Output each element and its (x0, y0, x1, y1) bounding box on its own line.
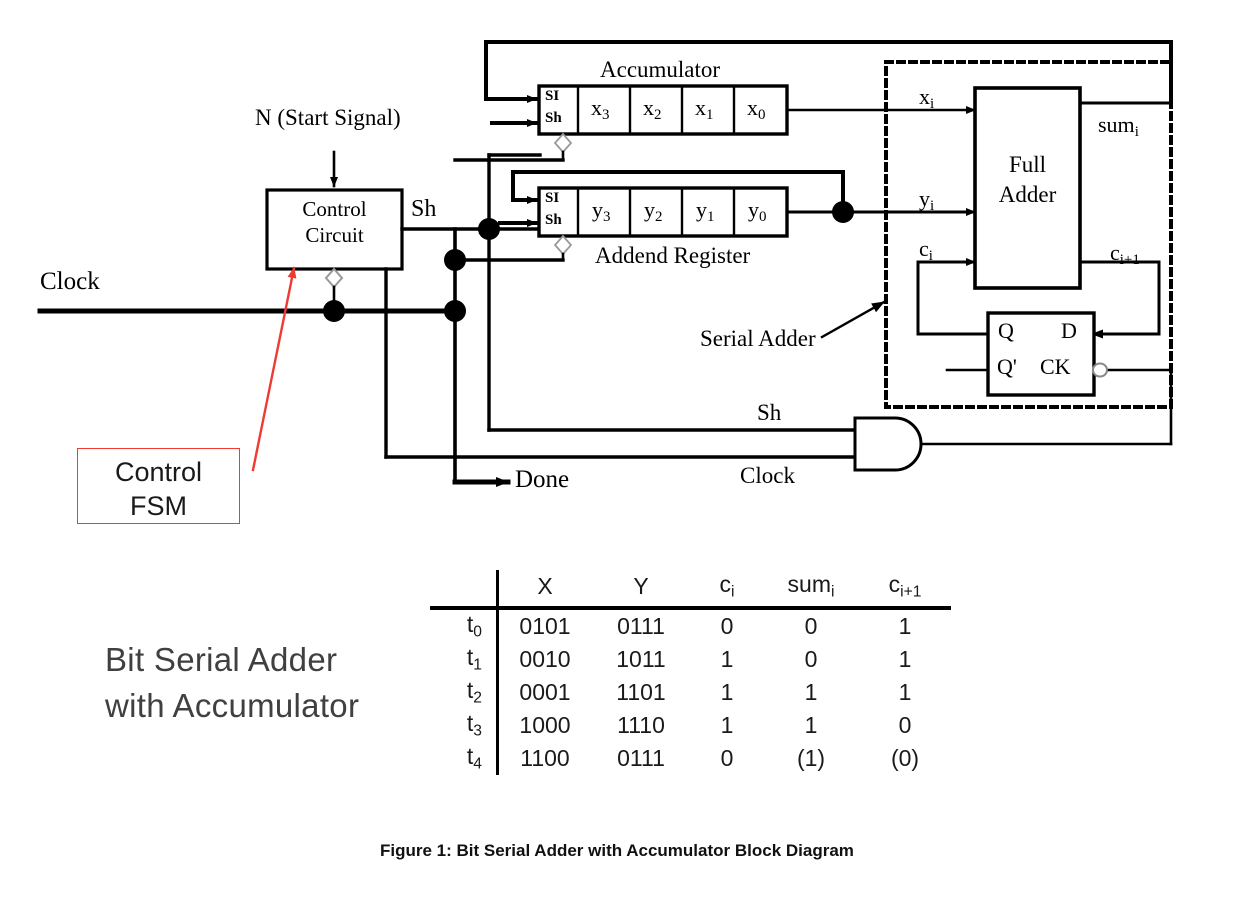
serial-adder-label: Serial Adder (700, 326, 816, 352)
row-time: t1 (430, 643, 498, 676)
table-row: t4 1100 0111 0 (1) (0) (430, 742, 951, 775)
cell-y: 0111 (591, 608, 691, 643)
header-time (430, 570, 498, 603)
trace-table: X Y ci sumi ci+1 t0 0101 0111 0 0 1 (430, 570, 951, 775)
ff-d-pin: D (1061, 318, 1077, 344)
accumulator-cell: x2 (643, 95, 661, 124)
cell-name: y (748, 197, 759, 222)
and-gate-clock-label: Clock (740, 463, 795, 489)
row-time: t2 (430, 676, 498, 709)
and-gate-sh-label: Sh (757, 400, 781, 426)
ff-qn-pin: Q' (997, 354, 1017, 380)
header-x: X (498, 570, 592, 603)
addend-cell: y0 (748, 197, 766, 226)
cell-cout: (0) (859, 742, 951, 775)
cell-sub: 1 (707, 209, 714, 225)
done-label: Done (515, 466, 569, 494)
cell-cout: 1 (859, 643, 951, 676)
addend-cell: y2 (644, 197, 662, 226)
row-time: t4 (430, 742, 498, 775)
cell-name: y (696, 197, 707, 222)
yi-name: y (919, 186, 930, 211)
yi-sub: i (930, 198, 934, 214)
cell-cout: 1 (859, 676, 951, 709)
cell-x: 0101 (498, 608, 592, 643)
figure-canvas: N (Start Signal) Clock Control Circuit S… (0, 0, 1256, 906)
cout-label: ci+1 (1110, 240, 1140, 269)
cell-sum: (1) (763, 742, 859, 775)
ff-ck-pin: CK (1040, 354, 1071, 380)
cell-ci: 0 (691, 742, 763, 775)
header-y: Y (591, 570, 691, 603)
cell-y: 1101 (591, 676, 691, 709)
xi-name: x (919, 84, 930, 109)
acc-clock-bubble (555, 134, 571, 152)
cell-x: 0010 (498, 643, 592, 676)
control-clock-bubble (326, 269, 342, 287)
junction-dot (444, 249, 466, 271)
cell-ci: 0 (691, 608, 763, 643)
sum-sub: i (1135, 124, 1139, 140)
cell-cout: 1 (859, 608, 951, 643)
full-adder-line2: Adder (999, 182, 1056, 207)
header-cout: ci+1 (859, 570, 951, 603)
yi-label: yi (919, 186, 934, 215)
full-adder-label: Full Adder (975, 150, 1080, 210)
fsm-pointer-arrow (253, 268, 294, 470)
cell-sum: 0 (763, 608, 859, 643)
cell-ci: 1 (691, 676, 763, 709)
table-row: t1 0010 1011 1 0 1 (430, 643, 951, 676)
cell-x: 1000 (498, 709, 592, 742)
figure-caption: Figure 1: Bit Serial Adder with Accumula… (380, 841, 854, 861)
serial-adder-pointer (822, 302, 884, 337)
full-adder-line1: Full (1009, 152, 1046, 177)
header-sum: sumi (763, 570, 859, 603)
ci-label: ci (919, 236, 933, 265)
table-body: t0 0101 0111 0 0 1 t1 0010 1011 1 0 1 t2 (430, 608, 951, 775)
header-ci: ci (691, 570, 763, 603)
cell-ci: 1 (691, 643, 763, 676)
addend-sh-pin: Sh (545, 212, 562, 229)
cell-name: x (695, 95, 706, 120)
cell-sub: 1 (706, 107, 713, 123)
figure-title-line1: Bit Serial Adder (105, 637, 359, 683)
accumulator-cell: x3 (591, 95, 609, 124)
fsm-line2: FSM (130, 491, 187, 521)
control-circuit-line2: Circuit (305, 223, 363, 247)
xi-sub: i (930, 96, 934, 112)
control-fsm-callout: Control FSM (77, 448, 240, 524)
start-signal-label: N (Start Signal) (255, 105, 401, 131)
cell-sum: 1 (763, 709, 859, 742)
addend-cell: y3 (592, 197, 610, 226)
cout-sub: i+1 (1120, 252, 1140, 268)
cell-cout: 0 (859, 709, 951, 742)
fsm-line1: Control (115, 457, 202, 487)
cell-sub: 3 (602, 107, 609, 123)
accumulator-title: Accumulator (600, 57, 720, 83)
cell-sub: 3 (603, 209, 610, 225)
row-time: t3 (430, 709, 498, 742)
junction-dot (444, 300, 466, 322)
sh-label: Sh (411, 196, 436, 223)
control-circuit-line1: Control (302, 197, 366, 221)
cell-y: 0111 (591, 742, 691, 775)
xi-label: xi (919, 84, 934, 113)
control-circuit-label: Control Circuit (276, 196, 393, 248)
cell-name: y (592, 197, 603, 222)
cell-y: 1110 (591, 709, 691, 742)
cell-sub: 2 (655, 209, 662, 225)
cell-ci: 1 (691, 709, 763, 742)
accumulator-sh-pin: Sh (545, 110, 562, 127)
row-time: t0 (430, 608, 498, 643)
cell-sub: 2 (654, 107, 661, 123)
control-fsm-text: Control FSM (78, 449, 239, 523)
sum-name: sum (1098, 112, 1135, 137)
addend-register-title: Addend Register (595, 243, 750, 269)
table-row: t2 0001 1101 1 1 1 (430, 676, 951, 709)
addend-si-pin: SI (545, 190, 559, 207)
accumulator-cell: x1 (695, 95, 713, 124)
junction-dot (478, 218, 500, 240)
cell-x: 0001 (498, 676, 592, 709)
accumulator-cell: x0 (747, 95, 765, 124)
cell-sum: 1 (763, 676, 859, 709)
cout-name: c (1110, 240, 1120, 265)
addend-cell: y1 (696, 197, 714, 226)
and-gate (855, 418, 921, 470)
cell-name: y (644, 197, 655, 222)
ck-inversion-bubble (1093, 364, 1107, 377)
ff-q-pin: Q (998, 318, 1014, 344)
accumulator-si-pin: SI (545, 88, 559, 105)
ci-name: c (919, 236, 929, 261)
table-header-row: X Y ci sumi ci+1 (430, 570, 951, 603)
cell-name: x (591, 95, 602, 120)
cell-name: x (643, 95, 654, 120)
sum-label: sumi (1098, 112, 1139, 141)
cell-sum: 0 (763, 643, 859, 676)
ci-sub: i (929, 248, 933, 264)
cell-x: 1100 (498, 742, 592, 775)
cell-sub: 0 (759, 209, 766, 225)
cell-name: x (747, 95, 758, 120)
junction-dot (323, 300, 345, 322)
junction-dot (832, 201, 854, 223)
cell-sub: 0 (758, 107, 765, 123)
table-row: t0 0101 0111 0 0 1 (430, 608, 951, 643)
addend-clock-bubble (555, 236, 571, 254)
figure-title: Bit Serial Adder with Accumulator (105, 637, 359, 729)
table-row: t3 1000 1110 1 1 0 (430, 709, 951, 742)
figure-title-line2: with Accumulator (105, 683, 359, 729)
cell-y: 1011 (591, 643, 691, 676)
clock-label: Clock (40, 268, 100, 296)
